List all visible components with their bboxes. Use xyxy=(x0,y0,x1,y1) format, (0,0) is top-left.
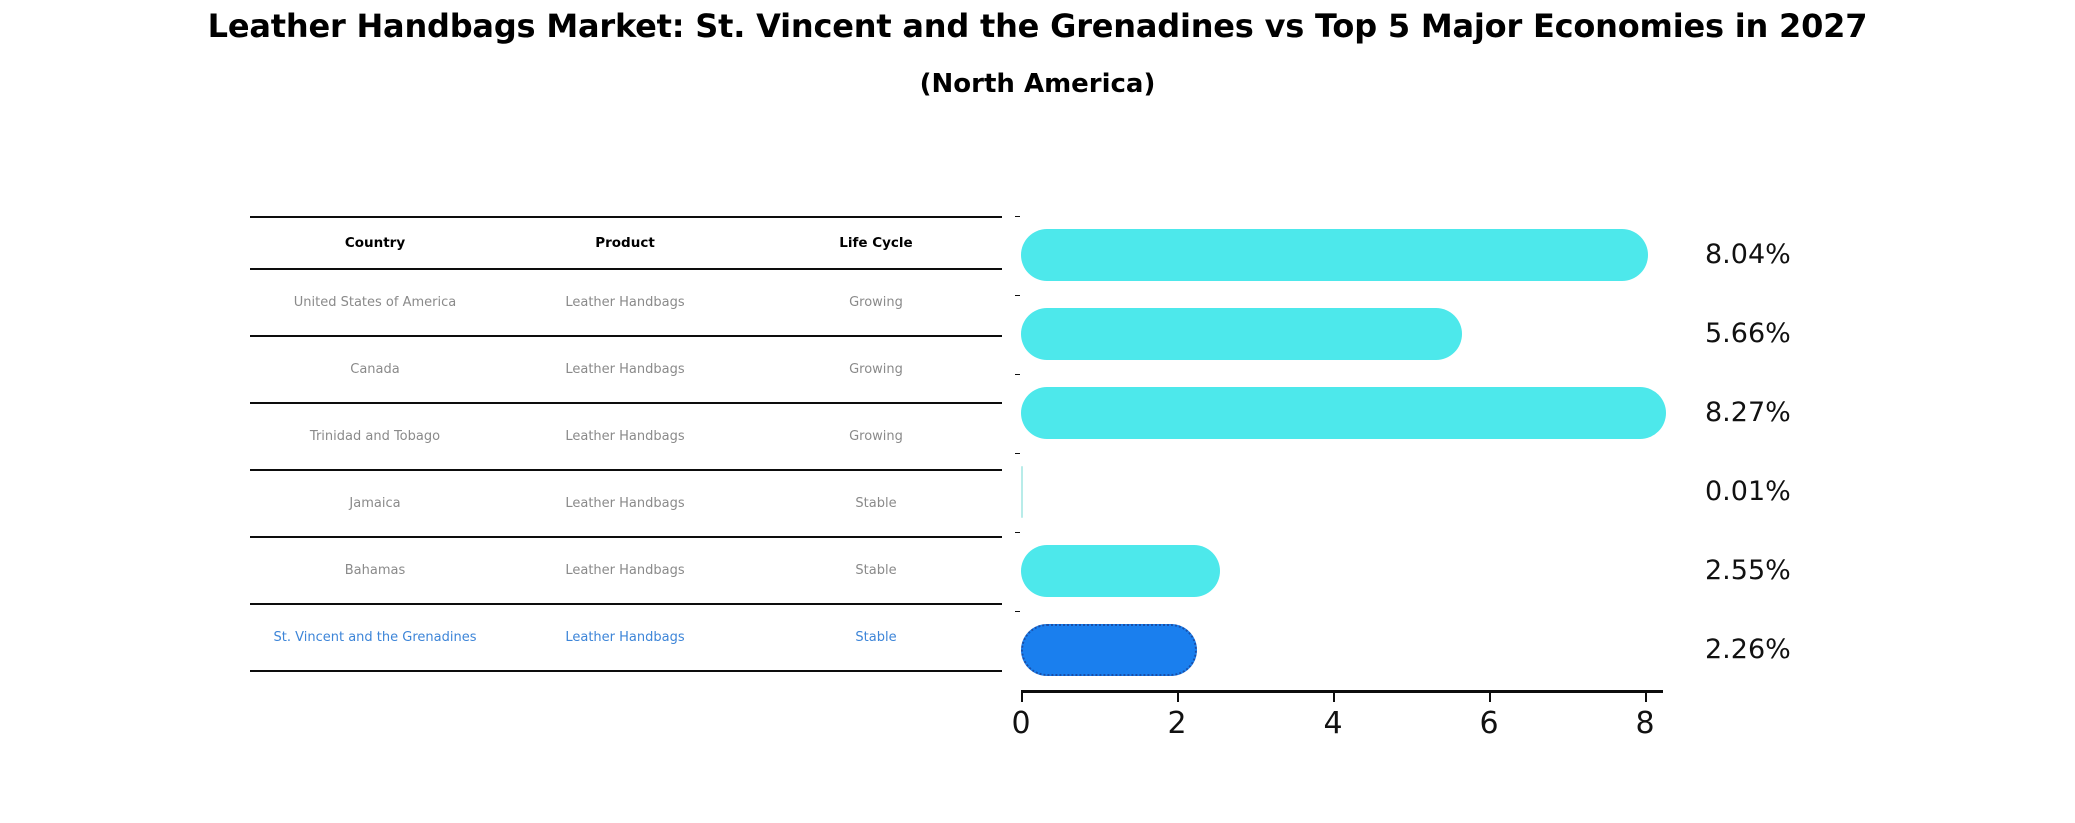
bar[interactable] xyxy=(1021,545,1220,597)
cell-product: Leather Handbags xyxy=(500,563,750,578)
column-header-product: Product xyxy=(500,235,750,251)
bar-row-tick xyxy=(1015,611,1020,612)
country-table: Country Product Life Cycle United States… xyxy=(250,216,1002,672)
bar-row-tick xyxy=(1015,453,1020,454)
cell-product: Leather Handbags xyxy=(500,630,750,645)
cell-country: Bahamas xyxy=(250,563,500,578)
bars-area: 8.04%5.66%8.27%0.01%2.55%2.26% xyxy=(1021,216,2021,690)
table-bottom-rule xyxy=(250,670,1002,672)
x-axis: 02468 xyxy=(1021,690,1663,693)
cell-life-cycle: Stable xyxy=(750,630,1002,645)
x-axis-tick-label: 2 xyxy=(1167,707,1186,741)
page-title: Leather Handbags Market: St. Vincent and… xyxy=(0,6,2075,46)
title-block: Leather Handbags Market: St. Vincent and… xyxy=(0,6,2075,102)
bar-value-label: 0.01% xyxy=(1705,467,1791,517)
cell-country: Canada xyxy=(250,362,500,377)
bar[interactable] xyxy=(1021,308,1462,360)
bar-value-label: 8.27% xyxy=(1705,388,1791,438)
cell-country: United States of America xyxy=(250,295,500,310)
bar-row-tick xyxy=(1015,532,1020,533)
table-header-row: Country Product Life Cycle xyxy=(250,218,1002,268)
table-row-highlighted[interactable]: St. Vincent and the Grenadines Leather H… xyxy=(250,605,1002,670)
bar-row: 2.26% xyxy=(1021,611,2021,690)
bar-value-label: 2.55% xyxy=(1705,546,1791,596)
x-axis-tick-label: 4 xyxy=(1323,707,1342,741)
table-row[interactable]: Bahamas Leather Handbags Stable xyxy=(250,538,1002,603)
bar-row: 8.27% xyxy=(1021,374,2021,453)
cell-product: Leather Handbags xyxy=(500,362,750,377)
x-axis-tick xyxy=(1645,693,1647,702)
cell-life-cycle: Growing xyxy=(750,429,1002,444)
cell-life-cycle: Growing xyxy=(750,362,1002,377)
bar-value-label: 5.66% xyxy=(1705,309,1791,359)
bar-row: 5.66% xyxy=(1021,295,2021,374)
column-header-country: Country xyxy=(250,235,500,251)
bar-row: 2.55% xyxy=(1021,532,2021,611)
cell-country: St. Vincent and the Grenadines xyxy=(250,630,500,645)
bar-highlighted[interactable] xyxy=(1021,624,1197,676)
x-axis-tick xyxy=(1177,693,1179,702)
bar-value-label: 8.04% xyxy=(1705,230,1791,280)
cell-product: Leather Handbags xyxy=(500,295,750,310)
cell-life-cycle: Growing xyxy=(750,295,1002,310)
cell-product: Leather Handbags xyxy=(500,429,750,444)
page-subtitle: (North America) xyxy=(0,66,2075,102)
column-header-life-cycle: Life Cycle xyxy=(750,235,1002,251)
bar[interactable] xyxy=(1021,466,1023,518)
bar-row: 8.04% xyxy=(1021,216,2021,295)
x-axis-tick xyxy=(1489,693,1491,702)
x-axis-tick-label: 6 xyxy=(1479,707,1498,741)
table-row[interactable]: Canada Leather Handbags Growing xyxy=(250,337,1002,402)
cell-life-cycle: Stable xyxy=(750,496,1002,511)
bar-value-label: 2.26% xyxy=(1705,625,1791,675)
x-axis-tick xyxy=(1021,693,1023,702)
bar-chart: 8.04%5.66%8.27%0.01%2.55%2.26% 02468 xyxy=(1021,216,2021,736)
bar-row-tick xyxy=(1015,216,1020,217)
table-row[interactable]: United States of America Leather Handbag… xyxy=(250,270,1002,335)
cell-country: Jamaica xyxy=(250,496,500,511)
x-axis-tick-label: 8 xyxy=(1635,707,1654,741)
x-axis-tick-label: 0 xyxy=(1011,707,1030,741)
table-row[interactable]: Trinidad and Tobago Leather Handbags Gro… xyxy=(250,404,1002,469)
bar[interactable] xyxy=(1021,229,1648,281)
cell-country: Trinidad and Tobago xyxy=(250,429,500,444)
bar-row-tick xyxy=(1015,374,1020,375)
bar[interactable] xyxy=(1021,387,1666,439)
bar-row-tick xyxy=(1015,295,1020,296)
x-axis-tick xyxy=(1333,693,1335,702)
cell-product: Leather Handbags xyxy=(500,496,750,511)
table-row[interactable]: Jamaica Leather Handbags Stable xyxy=(250,471,1002,536)
bar-row: 0.01% xyxy=(1021,453,2021,532)
cell-life-cycle: Stable xyxy=(750,563,1002,578)
